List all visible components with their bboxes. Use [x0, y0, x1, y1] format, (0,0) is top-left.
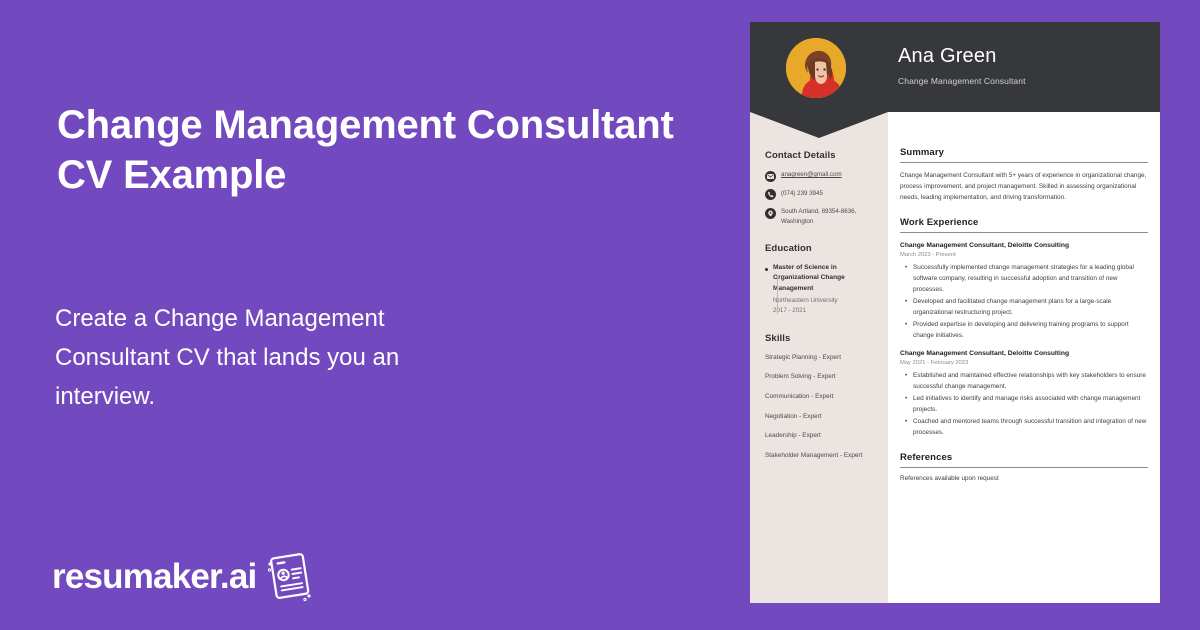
job-bullet: Led initiatives to identify and manage r… — [913, 393, 1148, 415]
resume-candidate-role: Change Management Consultant — [898, 76, 1026, 86]
resume-candidate-name: Ana Green — [898, 44, 1026, 68]
skill-item: Problem Solving - Expert — [765, 372, 877, 382]
contact-address-row: South Artland, 89354-8636, Washington — [765, 207, 877, 226]
job-bullet-list: Successfully implemented change manageme… — [900, 262, 1148, 341]
contact-phone-row: (074) 239 3945 — [765, 189, 877, 201]
phone-icon — [765, 189, 776, 200]
resume-card-icon — [260, 548, 316, 604]
references-heading: References — [900, 452, 1148, 468]
skills-heading: Skills — [765, 333, 877, 344]
references-text: References available upon request — [900, 475, 1148, 482]
job-bullet: Developed and facilitated change managem… — [913, 296, 1148, 318]
logo-wordmark: resumaker.ai — [52, 559, 256, 594]
contact-details-section: Contact Details anagreen@gmail.com (074)… — [765, 150, 877, 226]
job-bullet: Established and maintained effective rel… — [913, 370, 1148, 392]
education-degree: Master of Science in Organizational Chan… — [773, 263, 877, 294]
avatar — [786, 38, 846, 98]
location-pin-icon — [765, 208, 776, 219]
education-bullet-icon — [765, 268, 768, 271]
resume-name-block: Ana Green Change Management Consultant — [898, 44, 1026, 86]
job-title: Change Management Consultant, Deloitte C… — [900, 349, 1148, 359]
job-bullet: Coached and mentored teams through succe… — [913, 416, 1148, 438]
resume-sidebar-content: Contact Details anagreen@gmail.com (074)… — [765, 150, 877, 470]
contact-address: South Artland, 89354-8636, Washington — [781, 207, 877, 226]
promo-subtitle: Create a Change Management Consultant CV… — [55, 300, 495, 417]
summary-heading: Summary — [900, 147, 1148, 163]
job-bullet-list: Established and maintained effective rel… — [900, 370, 1148, 438]
work-experience-heading: Work Experience — [900, 217, 1148, 233]
references-section: References References available upon req… — [900, 452, 1148, 482]
skill-item: Strategic Planning - Expert — [765, 353, 877, 363]
education-item: Master of Science in Organizational Chan… — [765, 263, 877, 316]
promo-panel: Change Management Consultant CV Example … — [0, 0, 750, 630]
contact-email[interactable]: anagreen@gmail.com — [781, 170, 842, 180]
education-dates: 2017 - 2021 — [773, 306, 877, 316]
envelope-icon — [765, 171, 776, 182]
work-experience-section: Work Experience Change Management Consul… — [900, 217, 1148, 438]
job-bullet: Successfully implemented change manageme… — [913, 262, 1148, 295]
skill-item: Negotiation - Expert — [765, 412, 877, 422]
job-dates: May 2021 - February 2023 — [900, 360, 1148, 366]
education-timeline-rule — [777, 275, 778, 314]
education-section: Education Master of Science in Organizat… — [765, 243, 877, 316]
resume-main-content: Summary Change Management Consultant wit… — [900, 147, 1148, 496]
work-experience-item: Change Management Consultant, Deloitte C… — [900, 349, 1148, 438]
skill-item: Leadership - Expert — [765, 431, 877, 441]
contact-details-heading: Contact Details — [765, 150, 877, 161]
job-bullet: Provided expertise in developing and del… — [913, 319, 1148, 341]
education-heading: Education — [765, 243, 877, 254]
contact-email-row[interactable]: anagreen@gmail.com — [765, 170, 877, 182]
job-dates: March 2023 - Present — [900, 252, 1148, 258]
contact-phone: (074) 239 3945 — [781, 189, 823, 199]
skill-item: Communication - Expert — [765, 392, 877, 402]
summary-section: Summary Change Management Consultant wit… — [900, 147, 1148, 203]
summary-text: Change Management Consultant with 5+ yea… — [900, 170, 1148, 203]
job-title: Change Management Consultant, Deloitte C… — [900, 241, 1148, 251]
education-item-body: Master of Science in Organizational Chan… — [773, 263, 877, 316]
resume-preview[interactable]: Ana Green Change Management Consultant C… — [750, 22, 1160, 603]
education-school: Northeastern University — [773, 296, 877, 306]
page-title: Change Management Consultant CV Example — [57, 100, 717, 200]
resumaker-logo[interactable]: resumaker.ai — [52, 548, 316, 604]
skills-section: Skills Strategic Planning - Expert Probl… — [765, 333, 877, 461]
work-experience-item: Change Management Consultant, Deloitte C… — [900, 241, 1148, 341]
skill-item: Stakeholder Management - Expert — [765, 451, 877, 461]
